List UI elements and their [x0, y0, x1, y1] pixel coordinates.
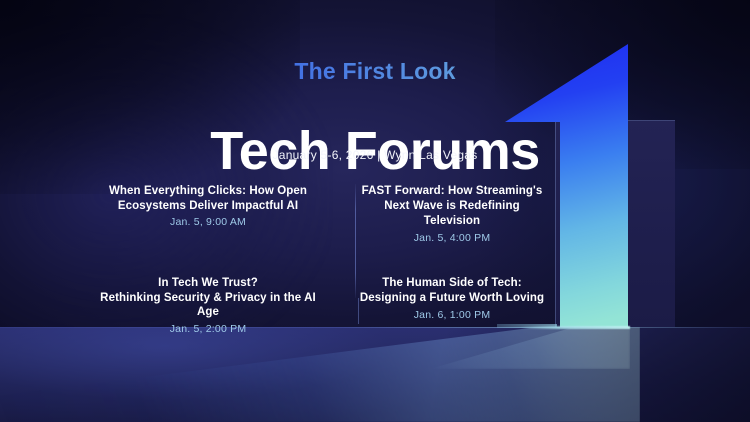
list-item[interactable]: The Human Side of Tech: Designing a Futu… [339, 276, 565, 335]
list-item[interactable]: FAST Forward: How Streaming's Next Wave … [339, 184, 565, 244]
session-title-line: The Human Side of Tech: [382, 277, 521, 289]
list-item[interactable]: In Tech We Trust? Rethinking Security & … [95, 276, 321, 335]
session-title: FAST Forward: How Streaming's Next Wave … [339, 184, 565, 229]
session-title: The Human Side of Tech: Designing a Futu… [339, 276, 565, 306]
session-title-line: FAST Forward: How Streaming's [362, 185, 543, 197]
slide-canvas: The First Look Tech Forums January 5-6, … [0, 0, 750, 422]
session-time: Jan. 6, 1:00 PM [339, 309, 565, 321]
session-list: When Everything Clicks: How Open Ecosyst… [95, 184, 565, 335]
event-date-location: January 5-6, 2026 | Wynn Las Vegas [0, 148, 750, 162]
session-title-line: When Everything Clicks: How Open [109, 185, 307, 197]
eyebrow-text: The First Look [0, 58, 750, 85]
list-item[interactable]: When Everything Clicks: How Open Ecosyst… [95, 184, 321, 244]
session-title: When Everything Clicks: How Open Ecosyst… [95, 184, 321, 213]
session-time: Jan. 5, 4:00 PM [339, 232, 565, 244]
slide-content: The First Look Tech Forums January 5-6, … [0, 0, 750, 422]
session-title-line: Designing a Future Worth Loving [360, 292, 544, 304]
session-title-line: Television [424, 215, 480, 227]
session-title-line: Next Wave is Redefining [384, 200, 519, 212]
session-title: In Tech We Trust? Rethinking Security & … [95, 276, 321, 320]
session-title-line: Ecosystems Deliver Impactful AI [118, 200, 298, 212]
session-title-line: Rethinking Security & Privacy in the AI … [100, 292, 316, 319]
session-title-line: In Tech We Trust? [158, 277, 258, 289]
session-time: Jan. 5, 9:00 AM [95, 216, 321, 228]
session-time: Jan. 5, 2:00 PM [95, 323, 321, 335]
